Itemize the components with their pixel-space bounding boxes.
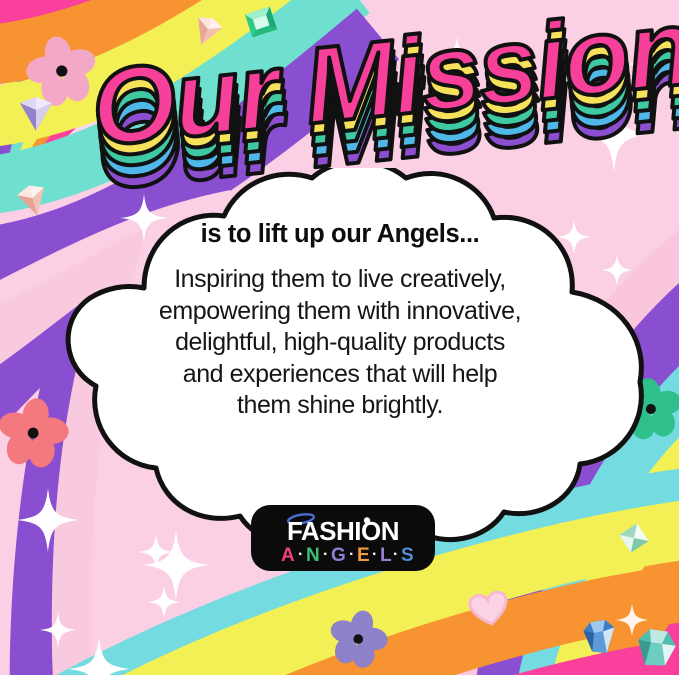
mission-cloud: is to lift up our Angels... Inspiring th…	[24, 168, 656, 548]
mission-graphic: Our Mission is to lift up our Angels... …	[0, 0, 679, 675]
mission-body-line-3: delightful, high-quality products	[86, 327, 594, 359]
mission-body-line-4: and experiences that will help	[86, 359, 594, 391]
logo-letter-l: L	[380, 545, 392, 566]
logo-letter-g: G	[331, 545, 346, 566]
logo-word-angels: A · N · G · E · L · S	[281, 545, 414, 566]
logo-artwork: FASHION A · N · G · E · L · S	[257, 509, 429, 567]
logo-sep-4: ·	[372, 546, 377, 563]
logo-word-fashion: FASHION	[287, 516, 399, 546]
mission-body-line-5: them shine brightly.	[86, 390, 594, 422]
logo-i-dot-icon	[364, 517, 370, 523]
logo-sep-3: ·	[349, 546, 354, 563]
cloud-text-block: is to lift up our Angels... Inspiring th…	[86, 220, 594, 422]
mission-body-line-1: Inspiring them to live creatively,	[86, 264, 594, 296]
fashion-angels-logo: FASHION A · N · G · E · L · S	[251, 505, 435, 571]
logo-letter-s: S	[401, 545, 414, 566]
logo-letter-a: A	[281, 545, 295, 566]
logo-letter-e: E	[357, 545, 370, 566]
logo-sep-2: ·	[323, 546, 328, 563]
mission-body-line-2: empowering them with innovative,	[86, 296, 594, 328]
mission-body: Inspiring them to live creatively, empow…	[86, 264, 594, 422]
logo-letter-n: N	[306, 545, 320, 566]
logo-sep-1: ·	[298, 546, 303, 563]
mission-headline: is to lift up our Angels...	[86, 220, 594, 248]
logo-sep-5: ·	[393, 546, 398, 563]
